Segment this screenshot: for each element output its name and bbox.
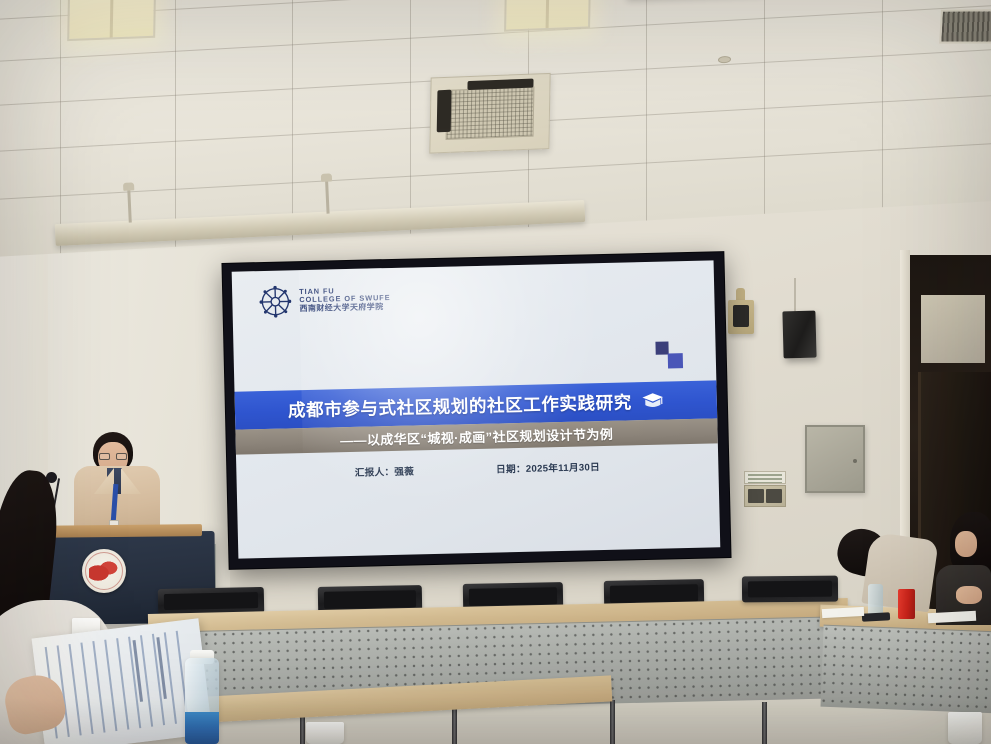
red-soda-can bbox=[898, 589, 915, 619]
presenter-label: 汇报人：强薇 bbox=[355, 463, 415, 478]
speaker-cable bbox=[794, 278, 796, 314]
door-glass-pane bbox=[921, 295, 985, 363]
ceiling-light-panel bbox=[67, 0, 157, 41]
projection-screen: TIAN FU COLLEGE OF SWUFE 西南财经大学天府学院 成都市参… bbox=[222, 252, 730, 569]
paper-cup bbox=[948, 712, 982, 744]
ceiling-ac-cassette bbox=[429, 73, 550, 154]
wall-speaker bbox=[782, 311, 816, 359]
attendee-face bbox=[955, 531, 977, 557]
smoke-detector-icon bbox=[718, 56, 731, 64]
presentation-slide: TIAN FU COLLEGE OF SWUFE 西南财经大学天府学院 成都市参… bbox=[232, 260, 721, 558]
smartphone bbox=[862, 612, 890, 621]
university-seal-icon bbox=[258, 284, 293, 319]
slide-title: 成都市参与式社区规划的社区工作实践研究 bbox=[288, 389, 632, 422]
attendee-hand bbox=[956, 586, 982, 604]
chair-leg bbox=[762, 702, 767, 744]
paper-cup bbox=[306, 722, 344, 744]
chair-back[interactable] bbox=[742, 576, 838, 603]
desk-modesty-panel bbox=[820, 625, 991, 714]
decorative-square bbox=[668, 353, 683, 368]
photo-scene: TIAN FU COLLEGE OF SWUFE 西南财经大学天府学院 成都市参… bbox=[0, 0, 991, 744]
chair-leg bbox=[610, 700, 615, 744]
wall-air-vent bbox=[939, 9, 991, 43]
graduation-cap-icon bbox=[642, 392, 664, 411]
eyeglasses bbox=[98, 453, 128, 460]
wall-notice-sign bbox=[744, 471, 786, 484]
electrical-panel-box[interactable] bbox=[805, 425, 865, 493]
logo-line-cn: 西南财经大学天府学院 bbox=[299, 303, 390, 314]
slide-meta-row: 汇报人：强薇 日期：2025年11月30日 bbox=[236, 456, 718, 481]
slide-logo: TIAN FU COLLEGE OF SWUFE 西南财经大学天府学院 bbox=[258, 282, 391, 319]
ceiling-light-panel bbox=[504, 0, 592, 32]
wall-lamp bbox=[728, 300, 754, 334]
bottle-label bbox=[185, 712, 219, 744]
light-switch-plate[interactable] bbox=[744, 485, 786, 507]
slide-subtitle: ——以成华区“城视·成画”社区规划设计节为例 bbox=[340, 424, 614, 449]
date-label: 日期：2025年11月30日 bbox=[496, 459, 600, 475]
university-crest-icon bbox=[82, 549, 126, 593]
